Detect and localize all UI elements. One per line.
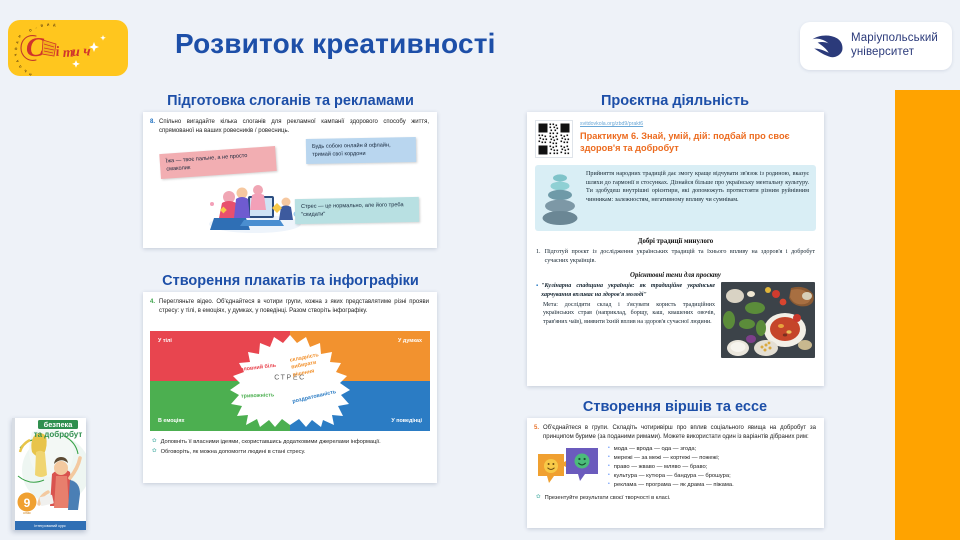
- flower-bullet-icon: ✿: [536, 494, 541, 502]
- textbook-grade-label: клас: [23, 511, 31, 515]
- rhyme-item-text: культура — кутюра — бандура — брошура;: [614, 472, 731, 481]
- right-accent-bar: [895, 90, 960, 540]
- svg-text:Н: Н: [17, 34, 22, 39]
- textbook-title-line3: та добробут: [34, 430, 83, 439]
- zen-stones-icon: [540, 170, 580, 226]
- dove-icon: [810, 31, 844, 61]
- slogans-task: 8. Спільно вигадайте кілька слоганів для…: [143, 112, 437, 135]
- textbook-grade: 9: [24, 496, 31, 510]
- practicum-intro-text: Прийняття народних традицій дає змогу кр…: [586, 170, 809, 226]
- card-slogans: 8. Спільно вигадайте кілька слоганів для…: [143, 112, 437, 248]
- section-heading-project: Проєктна діяльність: [525, 93, 825, 109]
- poems-task-text: Об'єднайтеся в групи. Складіть чотиривір…: [543, 424, 816, 441]
- svg-text:И: И: [47, 23, 50, 27]
- card-project: svitdovkola.org/zbd9/prakt6 Практикум 6.…: [527, 112, 824, 386]
- slide-root: C і т и ч Н А В Ч А Л: [0, 0, 960, 540]
- textbook-title-line2: безпека: [44, 420, 74, 429]
- slogans-task-text: Спільно вигадайте кілька слоганів для ре…: [159, 118, 429, 135]
- svg-text:В: В: [14, 47, 18, 50]
- dot-bullet-icon: •: [608, 454, 610, 463]
- rhyme-item-text: реклама — програма — як драма — піжама.: [614, 481, 734, 490]
- people-laptop-illustration: [206, 174, 304, 234]
- rhyme-item: •мережі — за межі — кортежі — пожежі;: [608, 454, 815, 463]
- practicum-header: svitdovkola.org/zbd9/prakt6 Практикум 6.…: [527, 112, 824, 158]
- slogan-online: Будь собою онлайн й офлайн, тримай свої …: [306, 137, 416, 164]
- ukrainian-food-photo: [721, 282, 815, 358]
- section-heading-poems: Створення віршів та ессе: [525, 399, 825, 415]
- posters-bullets: ✿ Доповніть її власними ідеями, скориста…: [143, 434, 437, 459]
- project-topic-goal: Мета: дослідити склад і з'ясувати корист…: [536, 301, 715, 326]
- svg-text:В: В: [40, 23, 44, 28]
- university-line-2: університет: [851, 46, 938, 60]
- poems-final-bullet-block: ✿ Презентуйте результати своєї творчості…: [527, 492, 824, 502]
- project-section-heading: Добрі традиції минулого: [527, 238, 824, 245]
- flower-bullet-icon: ✿: [152, 438, 157, 446]
- rhyme-item-text: мода — врода — ода — згода;: [614, 445, 696, 454]
- svg-text:Ч: Ч: [14, 53, 18, 56]
- posters-bullet-1: ✿ Доповніть її власними ідеями, скориста…: [152, 438, 429, 446]
- project-task: 1. Підготуй проєкт із дослідження україн…: [527, 248, 824, 265]
- rhyme-item: •право — жваво — мляво — браво;: [608, 463, 815, 472]
- stress-infographic: У тілі У думках В емоціях У поведінці СТ…: [150, 331, 430, 431]
- svitych-logo-icon: C і т и ч Н А В Ч А Л: [8, 20, 128, 76]
- project-topic-bullet: ▪ "Кулінарна спадщина українців: як трад…: [536, 282, 715, 299]
- textbook-footer: Інтегрований курс: [34, 524, 66, 528]
- dot-bullet-icon: •: [608, 445, 610, 454]
- brand-logo-svitych: C і т и ч Н А В Ч А Л: [8, 20, 128, 76]
- poems-final-bullet-text: Презентуйте результати своєї творчості в…: [545, 494, 671, 502]
- svg-text:Л: Л: [18, 64, 23, 69]
- svg-text:ч: ч: [83, 44, 91, 59]
- quadrant-label-behaviour: У поведінці: [391, 418, 422, 424]
- textbook-cover: безпека та добробут 9 клас Інтегрований …: [12, 418, 86, 530]
- svg-text:-: -: [35, 26, 38, 30]
- practicum-heading-block: svitdovkola.org/zbd9/prakt6 Практикум 6.…: [580, 120, 816, 155]
- slogan-stress: Стрес — це нормально, але його треба "ск…: [295, 197, 419, 224]
- practicum-url[interactable]: svitdovkola.org/zbd9/prakt6: [580, 121, 816, 128]
- svg-text:А: А: [15, 59, 20, 63]
- poems-final-bullet: ✿ Презентуйте результати своєї творчості…: [536, 494, 816, 502]
- flower-bullet-icon: ✿: [152, 448, 157, 456]
- university-name: Маріупольський університет: [851, 32, 938, 59]
- project-topics-heading: Орієнтовні теми для проєкту: [527, 272, 824, 279]
- symptom-anxiety: тривожність: [241, 392, 274, 399]
- dot-bullet-icon: •: [608, 472, 610, 481]
- poems-task: 5. Об'єднайтеся в групи. Складіть чотири…: [527, 418, 824, 441]
- quadrant-label-body: У тілі: [158, 338, 172, 344]
- quadrant-label-thoughts: У думках: [398, 338, 422, 344]
- starburst-shape: СТРЕС головний біль складність вибирати …: [216, 335, 364, 427]
- project-topic-title: "Кулінарна спадщина українців: як традиц…: [541, 282, 715, 299]
- practicum-title: Практикум 6. Знай, умій, дій: подбай про…: [580, 130, 816, 154]
- project-topic-row: ▪ "Кулінарна спадщина українців: як трад…: [527, 282, 824, 358]
- project-task-number: 1.: [536, 248, 541, 265]
- dot-bullet-icon: •: [608, 463, 610, 472]
- svg-text:и: и: [72, 45, 80, 60]
- dot-bullet-icon: •: [608, 481, 610, 490]
- slide-title: Розвиток креативності: [175, 28, 496, 60]
- posters-bullet-2: ✿ Обговоріть, як можна допомогти людині …: [152, 448, 429, 456]
- poems-rhyme-row: •мода — врода — ода — згода; •мережі — з…: [527, 441, 824, 492]
- textbook-cover-art: безпека та добробут 9 клас Інтегрований …: [12, 418, 86, 530]
- rhyme-item: •мода — врода — ода — згода;: [608, 445, 815, 454]
- rhyme-item-text: мережі — за межі — кортежі — пожежі;: [614, 454, 720, 463]
- project-task-text: Підготуй проєкт із дослідження українськ…: [545, 248, 815, 265]
- rhyme-item: •реклама — програма — як драма — піжама.: [608, 481, 815, 490]
- svg-text:Н: Н: [28, 72, 33, 76]
- slogans-task-number: 8.: [150, 118, 155, 135]
- card-poems: 5. Об'єднайтеся в групи. Складіть чотири…: [527, 418, 824, 528]
- posters-bullet-1-text: Доповніть її власними ідеями, скориставш…: [161, 438, 381, 446]
- poems-rhyme-list: •мода — врода — ода — згода; •мережі — з…: [608, 444, 815, 492]
- card-posters: 4. Перегляньте відео. Об'єднайтеся в чот…: [143, 292, 437, 483]
- qr-code-icon: [535, 120, 573, 158]
- rhyme-item-text: право — жваво — мляво — браво;: [614, 463, 708, 472]
- university-logo: Маріупольський університет: [800, 22, 952, 70]
- section-heading-posters: Створення плакатів та інфографіки: [143, 273, 438, 289]
- svg-text:А: А: [15, 40, 20, 44]
- posters-bullet-2-text: Обговоріть, як можна допомогти людині в …: [161, 448, 306, 456]
- poems-task-number: 5.: [534, 424, 539, 441]
- university-line-1: Маріупольський: [851, 32, 938, 46]
- section-heading-slogans: Підготовка слоганів та рекламами: [143, 93, 438, 109]
- quadrant-label-emotions: В емоціях: [158, 418, 184, 424]
- practicum-intro-band: Прийняття народних традицій дає змогу кр…: [535, 165, 816, 231]
- rhyme-item: •культура — кутюра — бандура — брошура;: [608, 472, 815, 481]
- posters-task-number: 4.: [150, 298, 155, 315]
- speech-bubbles-illustration: [536, 444, 600, 492]
- svg-text:Д: Д: [53, 23, 56, 27]
- posters-task: 4. Перегляньте відео. Об'єднайтеся в чот…: [143, 292, 437, 315]
- posters-task-text: Перегляньте відео. Об'єднайтеся в чотири…: [159, 298, 429, 315]
- square-bullet-icon: ▪: [536, 282, 538, 299]
- svg-text:Ь: Ь: [23, 68, 28, 73]
- project-topic-text-col: ▪ "Кулінарна спадщина українців: як трад…: [536, 282, 715, 358]
